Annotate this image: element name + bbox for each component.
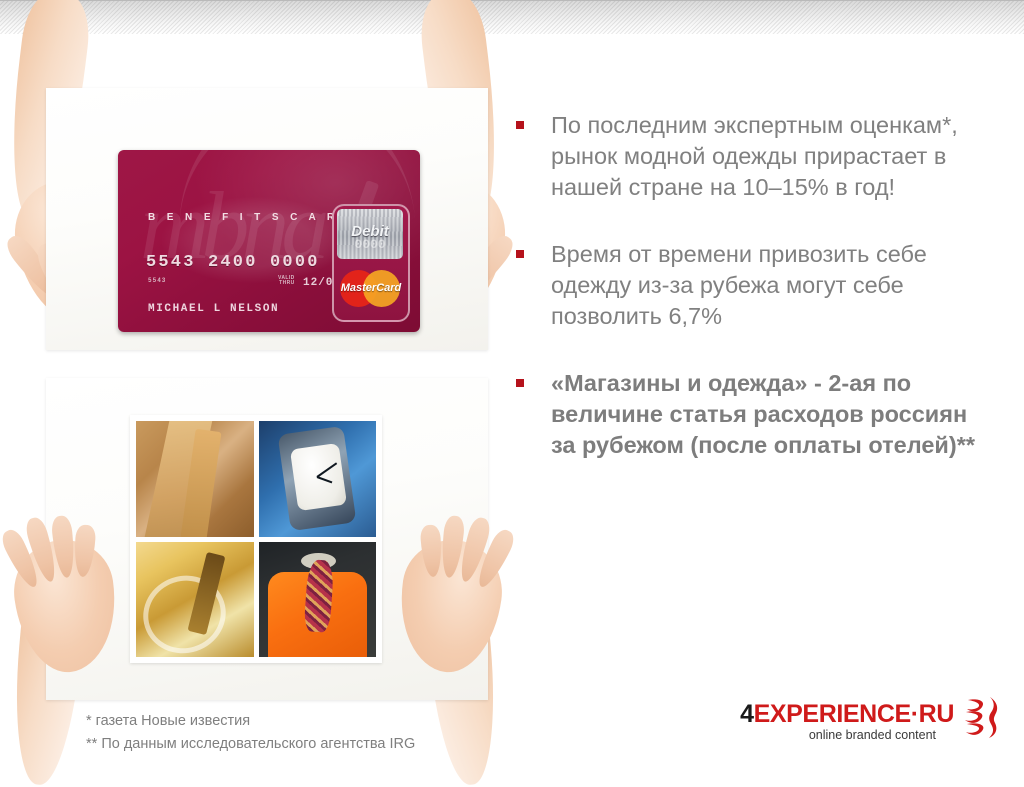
bullet-text-1: По последним экспертным оценкам*, рынок …: [551, 110, 975, 203]
brand-logo[interactable]: 4EXPERIENCE·RU online branded content: [740, 695, 1002, 748]
bullet-text-3: «Магазины и одежда» - 2-ая по величине с…: [551, 368, 975, 461]
card-number: 5543 2400 0000: [146, 253, 320, 272]
fashion-collage-image: [130, 415, 382, 663]
card-holder-name: MICHAEL L NELSON: [148, 303, 279, 315]
footnote-line-1: * газета Новые известия: [86, 710, 556, 733]
bullet-square-icon: [516, 250, 524, 258]
credit-card-image: mbna B E N E F I T S C A R D 5543 2400 0…: [118, 150, 420, 332]
gold-tableware-photo: [136, 542, 254, 658]
card-badge-panel: Debit 0000 MasterCard: [332, 204, 410, 322]
footnotes: * газета Новые известия ** По данным исс…: [86, 710, 556, 756]
brand-name-line: 4EXPERIENCE·RU: [740, 701, 954, 727]
hologram-icon: Debit 0000: [337, 209, 403, 259]
valid-label-line2: THRU: [279, 280, 295, 286]
brand-prefix: 4: [740, 700, 754, 728]
bullet-square-icon: [516, 379, 524, 387]
wristwatch-photo: [259, 421, 377, 537]
bullet-text-2: Время от времени привозить себе одежду и…: [551, 239, 975, 332]
suit-and-tie-photo: [136, 421, 254, 537]
bullet-item-1: По последним экспертным оценкам*, рынок …: [505, 110, 975, 203]
mastercard-icon: MasterCard: [338, 264, 404, 314]
brand-name: EXPERIENCE·RU: [754, 700, 954, 728]
bullet-list: По последним экспертным оценкам*, рынок …: [505, 110, 975, 461]
mastercard-label: MasterCard: [338, 282, 404, 294]
brand-wordmark: 4EXPERIENCE·RU online branded content: [740, 701, 954, 743]
bullet-item-2: Время от времени привозить себе одежду и…: [505, 239, 975, 332]
card-small-number: 5543: [148, 277, 166, 284]
card-title: B E N E F I T S C A R D: [148, 212, 357, 223]
card-valid-thru-label: VALID THRU: [278, 276, 295, 286]
footnote-line-2: ** По данным исследовательского агентств…: [86, 733, 556, 756]
left-photo-stage: mbna B E N E F I T S C A R D 5543 2400 0…: [0, 0, 500, 768]
bullet-square-icon: [516, 121, 524, 129]
hologram-ghost-number: 0000: [337, 237, 403, 252]
brand-flame-icon: [962, 695, 1002, 744]
brand-tagline: online branded content: [809, 728, 936, 743]
bullet-item-3: «Магазины и одежда» - 2-ая по величине с…: [505, 368, 975, 461]
orange-coat-photo: [259, 542, 377, 658]
